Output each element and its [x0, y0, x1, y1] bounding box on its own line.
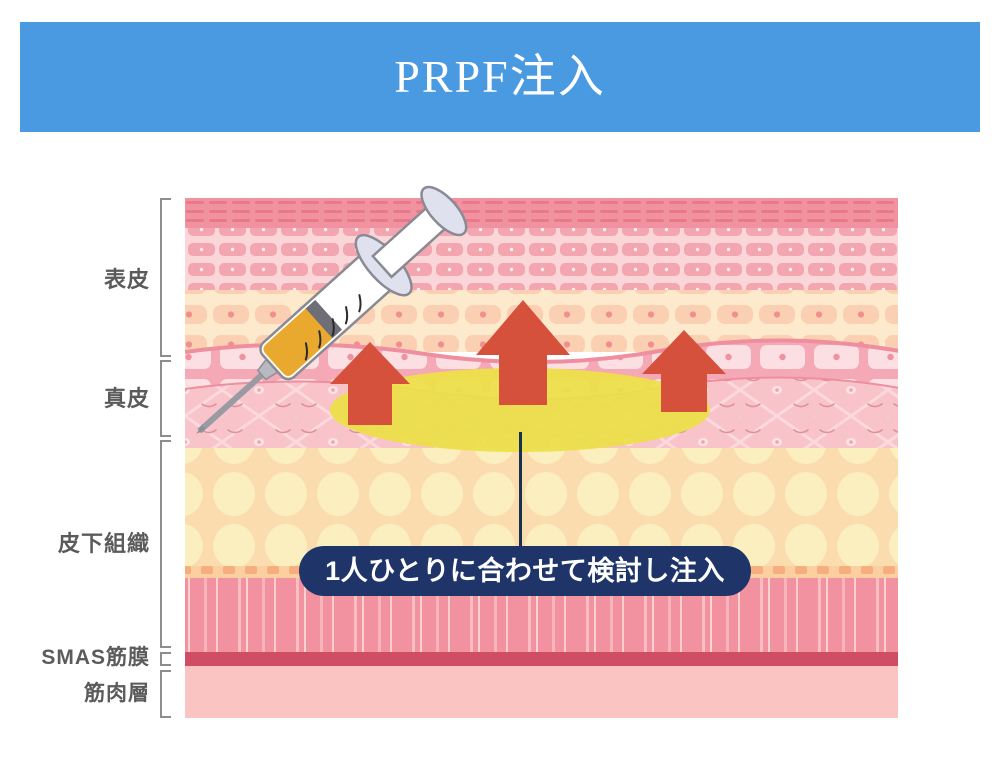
layer-label-dermis: 真皮	[60, 388, 150, 410]
bracket-dermis	[160, 360, 171, 437]
layer-label-smas-fascia: SMAS筋膜	[24, 647, 150, 668]
layer-muscle	[185, 666, 898, 718]
bracket-subcutaneous	[160, 440, 171, 648]
injection-callout-label: 1人ひとりに合わせて検討し注入	[325, 558, 725, 585]
bracket-smas-fascia	[160, 652, 171, 666]
layer-label-subcutaneous: 皮下組織	[38, 533, 150, 555]
layer-label-epidermis: 表皮	[60, 269, 150, 291]
bracket-muscle	[160, 670, 171, 718]
skin-cross-section-illustration: 1人ひとりに合わせて検討し注入 表皮 真皮 皮下組織 SMAS筋膜 筋肉層	[0, 0, 1000, 780]
layer-smas-fascia	[185, 652, 898, 666]
prpf-injection-diagram-page: PRPF注入	[0, 0, 1000, 780]
layer-stratum-corneum	[185, 198, 898, 228]
layer-label-muscle: 筋肉層	[60, 683, 150, 704]
injection-callout: 1人ひとりに合わせて検討し注入	[299, 546, 751, 596]
bracket-epidermis	[160, 198, 171, 357]
skin-layer-stack	[185, 198, 905, 718]
skin-layers-svg	[0, 0, 1000, 780]
layer-granular	[185, 228, 898, 290]
callout-leader-line	[519, 432, 522, 552]
